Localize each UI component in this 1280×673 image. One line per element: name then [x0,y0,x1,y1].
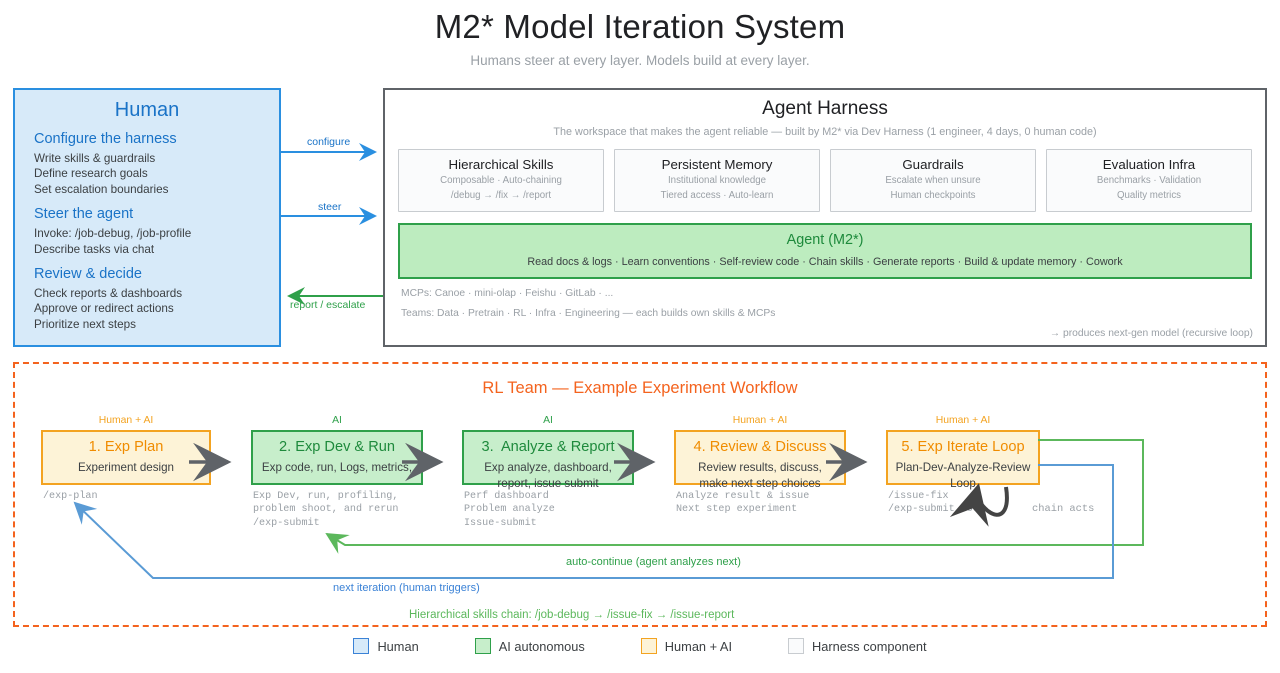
component-line: Human checkpoints [835,190,1031,202]
connector-arrows: configure steer report / escalate [281,88,386,347]
step-notes: Perf dashboard Problem analyze Issue-sub… [462,490,634,530]
human-group-heading: Configure the harness [34,131,279,147]
step-desc: Exp code, run, Logs, metrics, [258,460,416,476]
step-role-label: AI [462,415,634,426]
step-desc: Exp analyze, dashboard, report, issue su… [469,460,627,491]
step-box[interactable]: 2. Exp Dev & Run Exp code, run, Logs, me… [251,430,423,485]
workflow-step-2[interactable]: AI 2. Exp Dev & Run Exp code, run, Logs,… [251,415,423,530]
legend-label: Human [377,639,418,654]
legend-swatch-icon [788,638,804,654]
human-group-heading: Steer the agent [34,206,279,222]
step-desc: Experiment design [48,460,204,476]
harness-produces-note: → produces next-gen model (recursive loo… [1050,328,1253,339]
step-notes: /exp-plan [41,490,211,503]
component-line: /debug → /fix → /report [403,190,599,202]
workflow-step-1[interactable]: Human + AI 1. Exp Plan Experiment design… [41,415,211,503]
step-title: 2. Exp Dev & Run [258,438,416,457]
legend-item-human: Human [353,638,418,654]
workflow-step-5[interactable]: Human + AI 5. Exp Iterate Loop Plan-Dev-… [886,415,1040,517]
auto-continue-label: auto-continue (agent analyzes next) [566,556,741,568]
agent-capabilities: Read docs & logs · Learn conventions · S… [400,256,1250,268]
legend: Human AI autonomous Human + AI Harness c… [0,638,1280,654]
harness-title: Agent Harness [385,98,1265,120]
step-title: 1. Exp Plan [48,438,204,457]
human-panel-title: Human [15,99,279,122]
page-subtitle: Humans steer at every layer. Models buil… [0,53,1280,68]
legend-label: Harness component [812,639,927,654]
human-group-line: Set escalation boundaries [34,182,279,197]
step-box[interactable]: 4. Review & Discuss Review results, disc… [674,430,846,485]
legend-swatch-icon [475,638,491,654]
step-role-label: AI [251,415,423,426]
legend-swatch-icon [641,638,657,654]
legend-item-ai-autonomous: AI autonomous [475,638,585,654]
workflow-step-3[interactable]: AI 3. Analyze & Report Exp analyze, dash… [462,415,634,530]
component-line: Benchmarks · Validation [1051,175,1247,187]
next-iteration-label: next iteration (human triggers) [333,582,480,594]
page-title: M2* Model Iteration System [0,8,1280,46]
harness-component-hierarchical-skills: Hierarchical Skills Composable · Auto-ch… [398,149,604,212]
component-title: Persistent Memory [619,157,815,172]
step-title: 3. Analyze & Report [469,438,627,457]
human-group-line: Define research goals [34,166,279,181]
human-group-line: Describe tasks via chat [34,242,279,257]
legend-item-human-plus-ai: Human + AI [641,638,732,654]
harness-components-row: Hierarchical Skills Composable · Auto-ch… [385,138,1265,212]
harness-subtitle: The workspace that makes the agent relia… [385,126,1265,138]
step-desc: Plan-Dev-Analyze-Review Loop [893,460,1033,491]
agent-harness-panel: Agent Harness The workspace that makes t… [383,88,1267,347]
harness-footnote-teams: Teams: Data · Pretrain · RL · Infra · En… [401,308,1265,319]
component-line: Tiered access · Auto-learn [619,190,815,202]
step-box[interactable]: 5. Exp Iterate Loop Plan-Dev-Analyze-Rev… [886,430,1040,485]
step-notes: /issue-fix /exp-submit loop [886,490,1040,517]
workflow-step-4[interactable]: Human + AI 4. Review & Discuss Review re… [674,415,846,517]
rl-team-region: RL Team — Example Experiment Workflow Hu… [13,362,1267,627]
connector-label-configure: configure [307,136,350,148]
human-panel: Human Configure the harness Write skills… [13,88,281,347]
human-group-line: Prioritize next steps [34,317,279,332]
component-line: Escalate when unsure [835,175,1031,187]
human-group-line: Check reports & dashboards [34,286,279,301]
human-group-review: Review & decide Check reports & dashboar… [34,266,279,332]
component-title: Evaluation Infra [1051,157,1247,172]
connector-label-report-escalate: report / escalate [290,299,365,311]
legend-swatch-icon [353,638,369,654]
step-desc: Review results, discuss, make next step … [681,460,839,491]
harness-component-guardrails: Guardrails Escalate when unsure Human ch… [830,149,1036,212]
harness-component-persistent-memory: Persistent Memory Institutional knowledg… [614,149,820,212]
human-group-steer: Steer the agent Invoke: /job-debug, /job… [34,206,279,257]
step-box[interactable]: 1. Exp Plan Experiment design [41,430,211,485]
legend-label: AI autonomous [499,639,585,654]
agent-title: Agent (M2*) [400,232,1250,248]
skills-chain-label: Hierarchical skills chain: /job-debug → … [409,609,734,621]
step-title: 4. Review & Discuss [681,438,839,457]
component-line: Institutional knowledge [619,175,815,187]
legend-item-harness-component: Harness component [788,638,927,654]
step-box[interactable]: 3. Analyze & Report Exp analyze, dashboa… [462,430,634,485]
agent-box: Agent (M2*) Read docs & logs · Learn con… [398,223,1252,279]
connector-label-steer: steer [318,201,341,213]
harness-footnote-mcps: MCPs: Canoe · mini-olap · Feishu · GitLa… [401,288,1265,299]
human-group-heading: Review & decide [34,266,279,282]
step-role-label: Human + AI [674,415,846,426]
step-role-label: Human + AI [41,415,211,426]
component-line: Quality metrics [1051,190,1247,202]
human-group-line: Write skills & guardrails [34,151,279,166]
harness-component-evaluation-infra: Evaluation Infra Benchmarks · Validation… [1046,149,1252,212]
workflow-steps: Human + AI 1. Exp Plan Experiment design… [15,364,1269,629]
legend-label: Human + AI [665,639,732,654]
component-title: Hierarchical Skills [403,157,599,172]
step-title: 5. Exp Iterate Loop [893,438,1033,457]
human-group-line: Invoke: /job-debug, /job-profile [34,226,279,241]
human-group-line: Approve or redirect actions [34,301,279,316]
component-line: Composable · Auto-chaining [403,175,599,187]
step-notes: Exp Dev, run, profiling, problem shoot, … [251,490,423,530]
top-row: Human Configure the harness Write skills… [0,88,1280,348]
human-group-configure: Configure the harness Write skills & gua… [34,131,279,197]
component-title: Guardrails [835,157,1031,172]
chain-acts-label: chain acts [1032,503,1094,515]
step-role-label: Human + AI [886,415,1040,426]
step-notes: Analyze result & issue Next step experim… [674,490,846,517]
page-header: M2* Model Iteration System Humans steer … [0,0,1280,68]
